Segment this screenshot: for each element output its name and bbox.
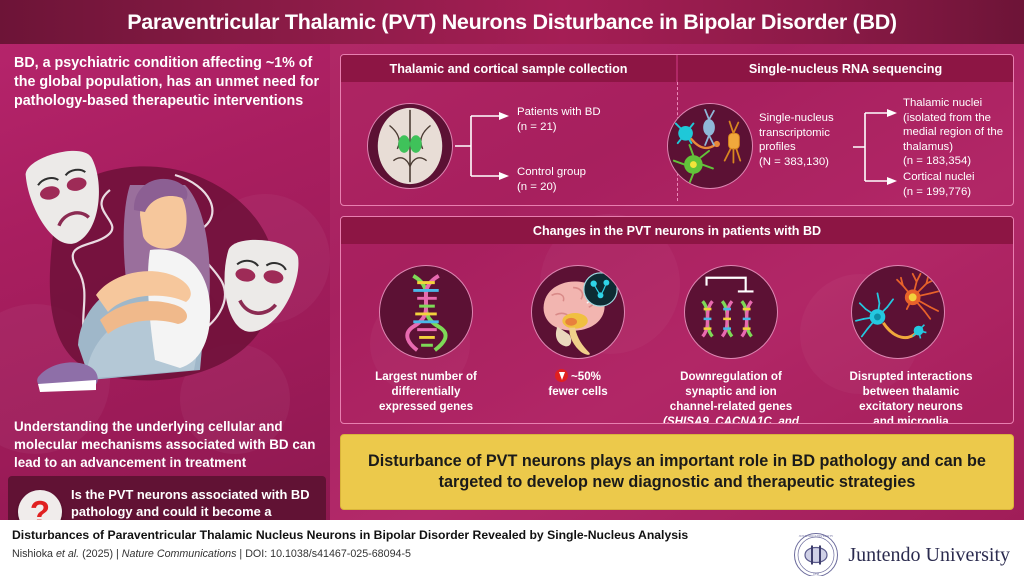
findings-panel: Changes in the PVT neurons in patients w… bbox=[340, 216, 1014, 424]
paper-title: Disturbances of Paraventricular Thalamic… bbox=[12, 528, 772, 543]
branch-label-patients: Patients with BD (n = 21) bbox=[517, 105, 657, 134]
methods-panel: Thalamic and cortical sample collection … bbox=[340, 54, 1014, 206]
left-panel: BD, a psychiatric condition affecting ~1… bbox=[0, 44, 330, 520]
dna-downregulation-icon bbox=[684, 265, 778, 359]
doi[interactable]: DOI: 10.1038/s41467-025-68094-5 bbox=[245, 548, 411, 560]
mid-statement: Understanding the underlying cellular an… bbox=[14, 418, 322, 473]
lead-statement: BD, a psychiatric condition affecting ~1… bbox=[14, 54, 320, 111]
finding-3-caption: Downregulation of synaptic and ion chann… bbox=[641, 369, 821, 424]
down-arrow-icon bbox=[555, 369, 568, 382]
gene-list: (SHISA9, CACNA1C, and KCNQ3) bbox=[663, 415, 799, 424]
header-sample-collection: Thalamic and cortical sample collection bbox=[341, 55, 676, 82]
neuron-microglia-interaction-icon bbox=[851, 265, 945, 359]
et-al: et al. bbox=[56, 548, 79, 560]
institution-name: Juntendo University bbox=[848, 544, 1010, 567]
juntendo-university-seal-icon: JUNTENDO UNIVERSITY 1838 bbox=[793, 532, 839, 576]
brain-sagittal-with-cells-icon bbox=[531, 265, 625, 359]
journal-name: Nature Communications bbox=[122, 548, 237, 560]
authors: Nishioka bbox=[12, 548, 53, 560]
conclusion-text: Disturbance of PVT neurons plays an impo… bbox=[357, 451, 997, 493]
page-title: Paraventricular Thalamic (PVT) Neurons D… bbox=[127, 10, 897, 35]
branch-connector-left bbox=[453, 107, 515, 185]
svg-text:1838: 1838 bbox=[813, 572, 820, 576]
title-bar: Paraventricular Thalamic (PVT) Neurons D… bbox=[0, 0, 1024, 44]
separator: | bbox=[239, 548, 242, 560]
separator: | bbox=[116, 548, 119, 560]
source-label-transcriptomic-profiles: Single-nucleus transcriptomic profiles (… bbox=[759, 111, 853, 169]
year: (2025) bbox=[82, 548, 113, 560]
branch-connector-right bbox=[851, 99, 905, 195]
svg-text:JUNTENDO UNIVERSITY: JUNTENDO UNIVERSITY bbox=[799, 534, 834, 538]
citation-line: Nishioka et al. (2025) | Nature Communic… bbox=[12, 548, 772, 560]
finding-2-caption: ~50% fewer cells bbox=[498, 369, 658, 399]
header-rna-sequencing: Single-nucleus RNA sequencing bbox=[678, 55, 1013, 82]
institution-logo: JUNTENDO UNIVERSITY 1838 Juntendo Univer… bbox=[793, 532, 1010, 576]
infographic-root: Paraventricular Thalamic (PVT) Neurons D… bbox=[0, 0, 1024, 576]
findings-panel-header: Changes in the PVT neurons in patients w… bbox=[341, 217, 1013, 244]
neuron-cell-types-icon bbox=[667, 103, 753, 189]
branch-label-control: Control group (n = 20) bbox=[517, 165, 657, 194]
citation-block: Disturbances of Paraventricular Thalamic… bbox=[12, 528, 772, 560]
axial-brain-scan-thalamus-icon bbox=[367, 103, 453, 189]
finding-1-caption: Largest number of differentially express… bbox=[346, 369, 506, 414]
conclusion-banner: Disturbance of PVT neurons plays an impo… bbox=[340, 434, 1014, 510]
footer: Disturbances of Paraventricular Thalamic… bbox=[0, 520, 1024, 576]
research-question-box: ? Is the PVT neurons associated with BD … bbox=[8, 476, 326, 520]
research-question-text: Is the PVT neurons associated with BD pa… bbox=[71, 486, 316, 520]
question-mark-icon: ? bbox=[18, 490, 62, 520]
branch-label-cortical-nuclei: Cortical nuclei (n = 199,776) bbox=[903, 170, 1014, 199]
dna-helix-icon bbox=[379, 265, 473, 359]
branch-label-thalamic-nuclei: Thalamic nuclei (isolated from the media… bbox=[903, 96, 1014, 169]
finding-4-caption: Disrupted interactions between thalamic … bbox=[826, 369, 996, 424]
methods-panel-headers: Thalamic and cortical sample collection … bbox=[341, 55, 1013, 82]
right-content-area: Thalamic and cortical sample collection … bbox=[330, 44, 1024, 520]
person-with-theatre-masks-illustration bbox=[0, 130, 330, 406]
